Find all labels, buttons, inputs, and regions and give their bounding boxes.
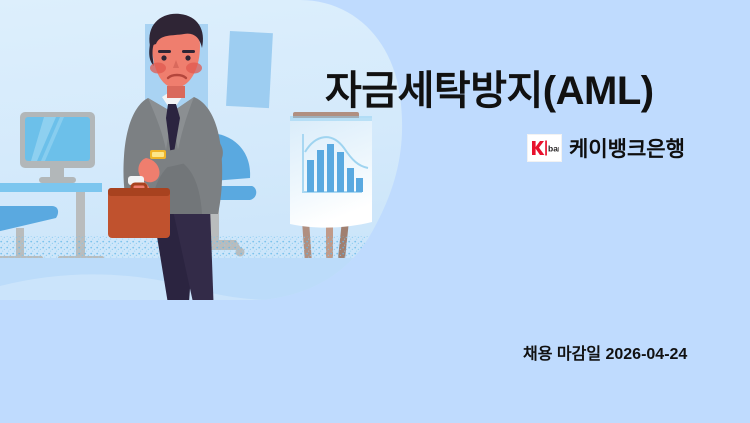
wall-poster-small [226,31,273,108]
flipchart-bar-6 [356,178,363,192]
company-name: 케이뱅크은행 [569,133,685,163]
illustration-panel [0,0,430,330]
wristwatch-face [152,152,164,157]
logo-bar [545,141,547,156]
scene-clip [0,0,430,330]
eye-left [161,55,166,60]
neck [167,86,185,98]
blush-left [150,63,166,74]
briefcase [108,184,170,238]
desk-top [0,183,102,192]
company-brand-row: bank 케이뱅크은행 [527,133,685,163]
flipchart-bar-1 [307,160,314,192]
eyebrow-left [158,50,171,53]
job-posting-card: 자금세탁방지(AML) bank 케이뱅크은행 채용 마감일 2026-04-2… [0,0,750,423]
page-title: 자금세탁방지(AML) [325,70,654,112]
eye-right [185,55,190,60]
flipchart-bar-3 [327,144,334,192]
flipchart-bar-5 [347,168,354,192]
flipchart-bar-2 [317,150,324,192]
shoe-right [194,316,232,329]
shoe-left [152,316,192,329]
flipchart-bar-4 [337,152,344,192]
blush-right [186,63,202,74]
logo-word-bank: bank [548,144,559,154]
logo-letter-k [532,141,544,155]
kbank-logo-icon: bank [527,134,562,162]
flipchart-clip [290,116,372,121]
floor-speckle [0,236,430,260]
monitor-base [39,177,76,183]
deadline-text: 채용 마감일 2026-04-24 [523,340,687,364]
monitor-neck [50,168,64,178]
eyebrow-right [182,50,195,53]
